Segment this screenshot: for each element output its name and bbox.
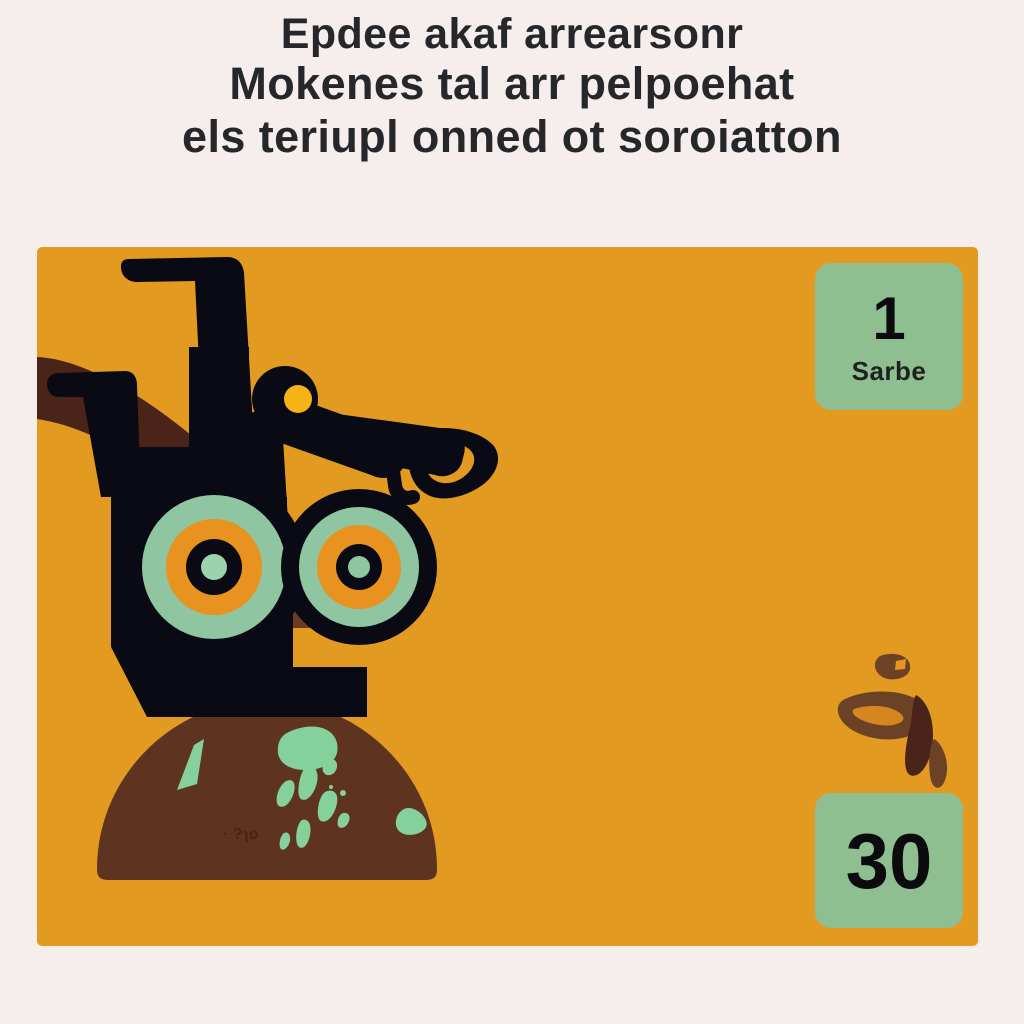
badge-bottom-number: 30 (846, 822, 933, 900)
large-soil-mound-shape (97, 700, 437, 880)
badge-step-1[interactable]: 1 Sarbe (815, 263, 963, 410)
rear-wheel-center (348, 556, 370, 578)
large-soil-mound-group: · ?ɿɒ (97, 700, 437, 946)
organic-scrap (340, 790, 346, 796)
front-wheel-center (201, 554, 227, 580)
title-line-3: els teriupl onned ot soroiatton (0, 110, 1024, 165)
page-title: Epdee akaf arrearsonr Mokenes tal arr pe… (0, 8, 1024, 165)
front-wheel (122, 475, 306, 659)
rear-wheel (281, 489, 437, 645)
excavator-machine (47, 257, 498, 717)
title-line-2: Mokenes tal arr pelpoehat (0, 57, 1024, 112)
page-root: Epdee akaf arrearsonr Mokenes tal arr pe… (0, 0, 1024, 1024)
badge-top-caption: Sarbe (852, 358, 927, 384)
soil-texture-text: · ?ɿɒ (223, 826, 259, 843)
falling-debris (838, 654, 947, 788)
pivot-dot (284, 385, 312, 413)
cab-left-pillar (47, 371, 141, 497)
title-line-1: Epdee akaf arrearsonr (0, 8, 1024, 60)
badge-top-number: 1 (872, 289, 905, 349)
debris-leg (929, 739, 947, 788)
organic-scrap (329, 785, 333, 789)
badge-step-30[interactable]: 30 (815, 793, 963, 928)
illustration-panel: · ?ɿɒ (37, 247, 978, 946)
